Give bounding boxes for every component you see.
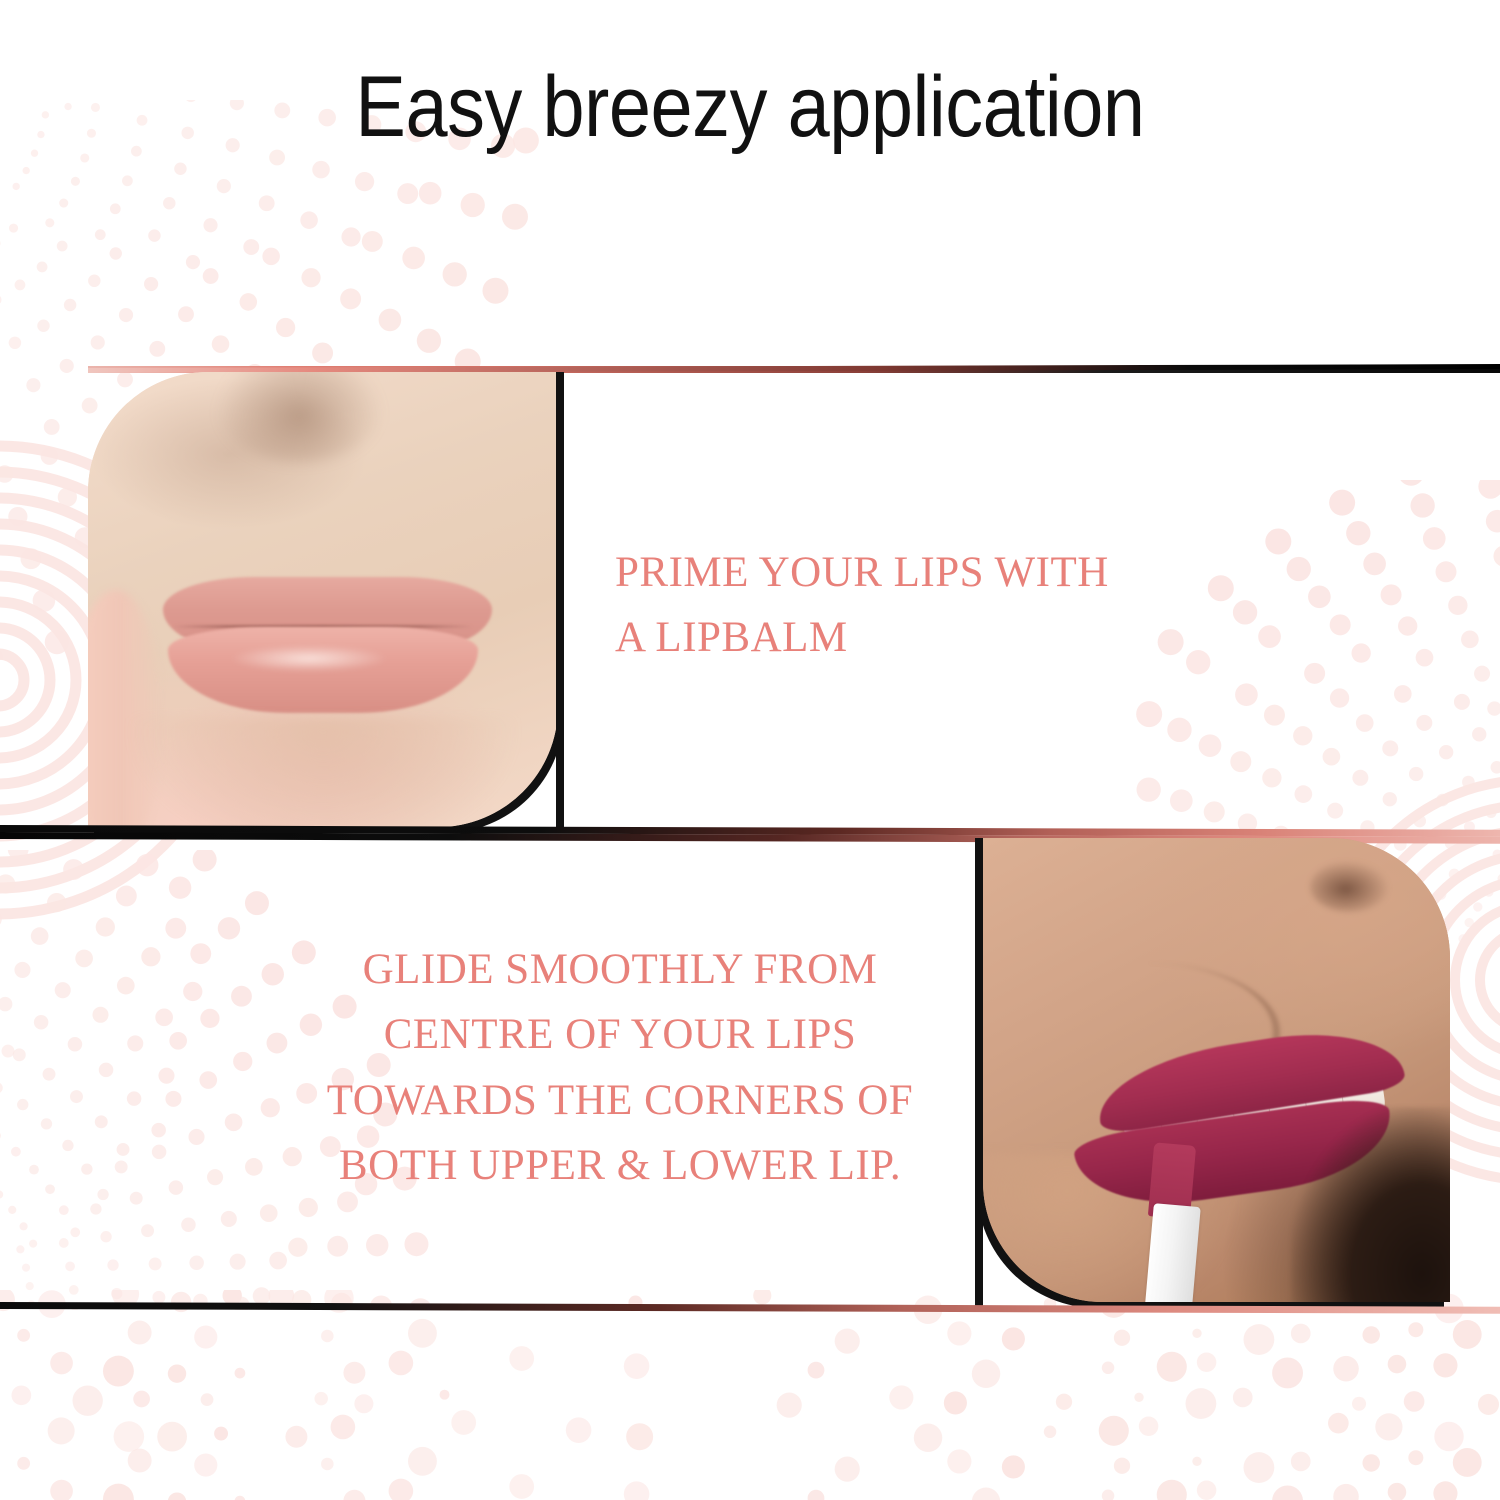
nostril	[1310, 861, 1389, 912]
panel-bottom-bottom-rule	[0, 1302, 1500, 1314]
lip-gloss-highlight	[229, 645, 389, 672]
scattered-dots-bottom	[0, 1290, 1500, 1500]
step-card-prime: PRIME YOUR LIPS WITH A LIPBALM	[0, 366, 1500, 832]
step-card-glide: GLIDE SMOOTHLY FROM CENTRE OF YOUR LIPS …	[0, 832, 1500, 1312]
panel-top-vertical-divider	[556, 372, 564, 832]
photo-natural-lips-closeup	[88, 372, 558, 827]
caption-glide: GLIDE SMOOTHLY FROM CENTRE OF YOUR LIPS …	[250, 937, 990, 1198]
hair	[1291, 1107, 1450, 1302]
panel-bottom-vertical-divider	[975, 838, 983, 1308]
caption-prime: PRIME YOUR LIPS WITH A LIPBALM	[615, 541, 1255, 670]
lip-crayon-body	[1144, 1203, 1200, 1302]
poster-canvas: Easy breezy application PRIME YOUR LIPS …	[0, 0, 1500, 1500]
page-title: Easy breezy application	[90, 62, 1410, 152]
chin-area	[126, 718, 521, 827]
photo-applying-lip-crayon	[983, 838, 1450, 1302]
